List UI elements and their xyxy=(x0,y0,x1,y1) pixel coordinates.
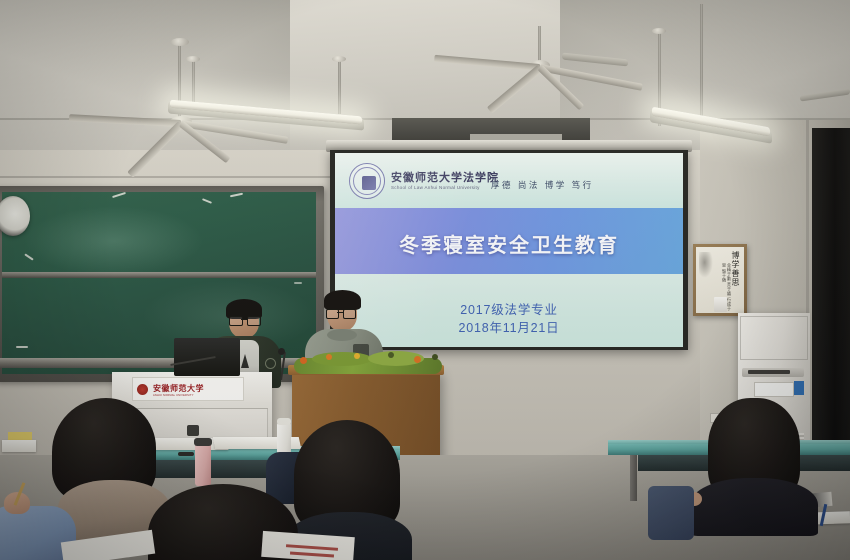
jacket-patch xyxy=(265,358,276,369)
microphone-head xyxy=(278,348,285,355)
console-institution-en: ANHUI NORMAL UNIVERSITY xyxy=(153,394,204,397)
presenter-right-glasses xyxy=(326,309,339,319)
light-rod xyxy=(700,4,703,122)
glasses-bridge xyxy=(241,319,247,320)
flower-dark xyxy=(432,354,438,360)
ink-painting xyxy=(699,252,713,278)
fan-mount xyxy=(171,38,189,46)
console-lock[interactable] xyxy=(187,425,199,436)
ceiling-light-right xyxy=(600,4,840,144)
flower-orange xyxy=(414,356,421,363)
student-shoulders xyxy=(690,478,818,536)
hoodie-collar xyxy=(327,329,357,341)
console-institution-cn: 安徽师范大学 xyxy=(153,383,204,394)
flower-yellow xyxy=(354,353,360,359)
eyeglasses-on-desk xyxy=(178,452,194,456)
flower-arrangement xyxy=(292,350,444,372)
light-mount xyxy=(186,56,200,62)
light-mount xyxy=(652,28,666,34)
blackboard-slide-rail xyxy=(2,272,316,278)
desk-leg xyxy=(630,455,637,501)
pink-thermos xyxy=(195,442,211,486)
chalk-mark xyxy=(294,282,302,284)
paper-cup xyxy=(714,297,727,312)
ac-label-sticker xyxy=(754,382,794,397)
fan-rod xyxy=(538,26,541,64)
ac-display-slot xyxy=(748,370,790,374)
presenter-right-hair xyxy=(324,290,361,310)
bottle-cap xyxy=(277,418,291,425)
light-mount xyxy=(332,56,346,62)
blackboard-glare xyxy=(24,206,204,276)
ceiling-light-left xyxy=(150,58,380,148)
ac-upper-panel xyxy=(740,316,808,360)
flower-orange xyxy=(300,357,307,364)
classroom-photo: 安徽师范大学法学院 School of Law Anhui Normal Uni… xyxy=(0,0,850,560)
stacked-books xyxy=(2,440,36,452)
foliage xyxy=(312,352,372,366)
flower-orange xyxy=(326,354,332,360)
university-seal-red xyxy=(137,384,148,395)
sticky-notes xyxy=(8,432,32,440)
projection-screen: 安徽师范大学法学院 School of Law Anhui Normal Uni… xyxy=(335,153,683,347)
student-right-seated xyxy=(690,398,820,528)
chalk-mark xyxy=(16,346,28,348)
glasses-bridge xyxy=(337,312,343,313)
light-rod xyxy=(338,58,341,114)
presenter-right-glasses xyxy=(343,309,356,319)
flower-dark xyxy=(388,352,394,358)
presenter-left-glasses xyxy=(229,316,243,326)
wall-trim-line xyxy=(0,176,330,178)
ac-energy-sticker xyxy=(794,381,804,395)
fan-blade xyxy=(434,55,540,71)
thermos-lid xyxy=(194,438,212,446)
presenter-left-glasses xyxy=(247,316,261,326)
student-far-right-jeans xyxy=(648,486,694,540)
screen-glare xyxy=(335,153,683,347)
console-plate-text: 安徽师范大学 ANHUI NORMAL UNIVERSITY xyxy=(153,383,204,397)
